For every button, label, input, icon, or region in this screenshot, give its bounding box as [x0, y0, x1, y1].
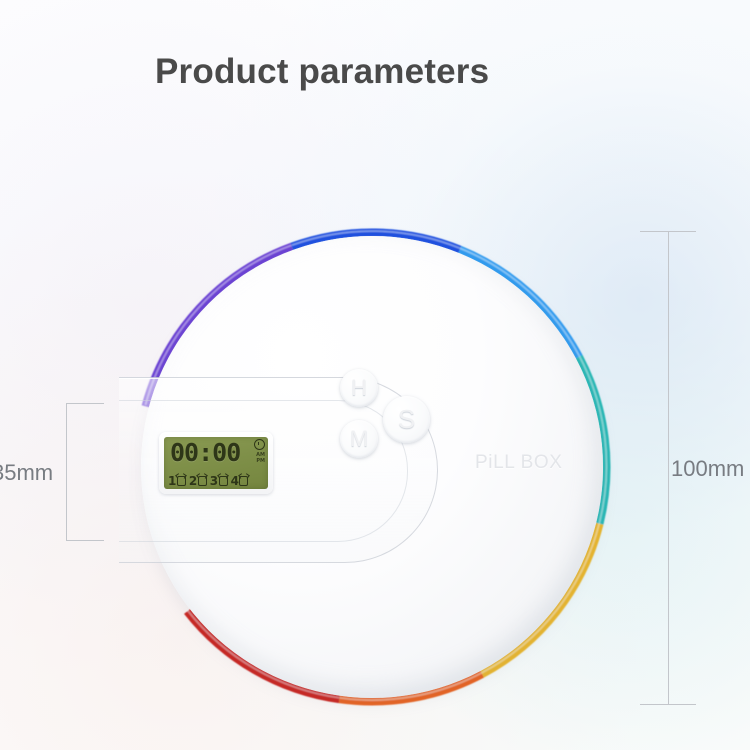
- thickness-dimension-tick-bottom: [66, 540, 104, 541]
- alarm-bell-icon: [177, 476, 186, 486]
- lcd-slot-1: 1: [168, 474, 186, 488]
- lcd-pm-label: PM: [256, 458, 265, 464]
- height-dimension-label: 100mm: [671, 456, 744, 482]
- hour-button[interactable]: H: [340, 369, 378, 407]
- alarm-bell-icon: [219, 476, 228, 486]
- clock-icon: [254, 439, 265, 450]
- lcd-slot-indicators: 1234: [168, 474, 248, 488]
- thickness-dimension-line: [66, 403, 67, 541]
- thickness-dimension-tick-top: [66, 403, 104, 404]
- lcd-screen: 00:00 AM PM 1234: [164, 437, 268, 489]
- height-dimension-tick-top: [640, 231, 696, 232]
- lcd-ampm-indicator: AM PM: [256, 452, 265, 464]
- set-button[interactable]: S: [383, 396, 430, 443]
- height-dimension-tick-bottom: [640, 704, 696, 705]
- lcd-slot-3: 3: [210, 474, 228, 488]
- minute-button[interactable]: M: [340, 420, 378, 458]
- thickness-dimension-label: 35mm: [0, 460, 53, 486]
- product-parameters-canvas: Product parameters 00:00 AM PM 123: [0, 0, 750, 750]
- lcd-time-display: 00:00: [170, 439, 240, 467]
- alarm-bell-icon: [239, 476, 248, 486]
- lcd-slot-4: 4: [231, 474, 249, 488]
- pill-box-device: 00:00 AM PM 1234 H M S PiLL BOX: [133, 228, 611, 706]
- page-title: Product parameters: [155, 52, 489, 92]
- lcd-slot-2: 2: [189, 474, 207, 488]
- alarm-bell-icon: [198, 476, 207, 486]
- lcd-bezel: 00:00 AM PM 1234: [159, 432, 273, 494]
- brand-label: PiLL BOX: [475, 452, 563, 474]
- height-dimension-line: [668, 231, 669, 704]
